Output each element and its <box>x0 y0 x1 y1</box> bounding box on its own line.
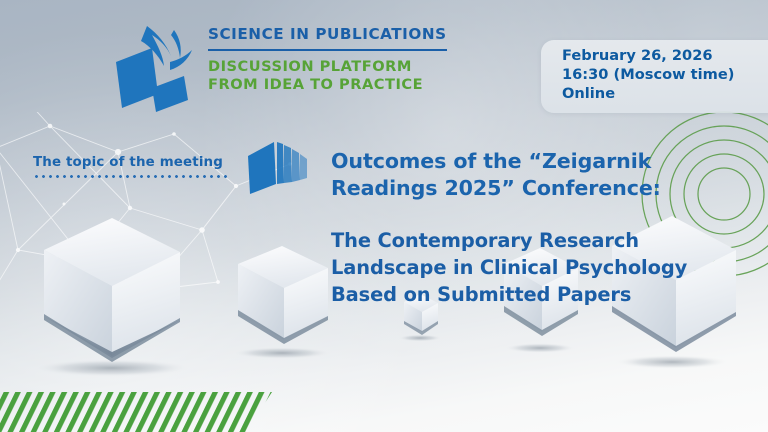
brand-text-block: SCIENCE IN PUBLICATIONS DISCUSSION PLATF… <box>208 14 447 93</box>
event-date: February 26, 2026 <box>562 47 768 66</box>
book-with-birds-icon <box>108 16 200 112</box>
brand-line-2: DISCUSSION PLATFORM <box>208 58 447 76</box>
topic-badge: The topic of the meeting <box>33 155 229 178</box>
event-format: Online <box>562 85 768 104</box>
subtitle-line-2: Landscape in Clinical Psychology <box>331 255 751 282</box>
subtitle-line-3: Based on Submitted Papers <box>331 282 751 309</box>
title-line-1: Outcomes of the “Zeigarnik <box>331 148 746 175</box>
topic-badge-dotted-rule <box>33 175 229 178</box>
subtitle-line-1: The Contemporary Research <box>331 228 751 255</box>
brand-line-1: SCIENCE IN PUBLICATIONS <box>208 26 447 43</box>
title-line-2: Readings 2025” Conference: <box>331 175 746 202</box>
webinar-announcement-banner: SCIENCE IN PUBLICATIONS DISCUSSION PLATF… <box>0 0 768 432</box>
event-details-panel: February 26, 2026 16:30 (Moscow time) On… <box>541 40 768 113</box>
brand-line-3: FROM IDEA TO PRACTICE <box>208 76 447 94</box>
open-book-icon <box>243 136 309 198</box>
event-time: 16:30 (Moscow time) <box>562 66 768 85</box>
page-title: Outcomes of the “Zeigarnik Readings 2025… <box>331 148 746 202</box>
brand-divider <box>208 49 447 51</box>
page-subtitle: The Contemporary Research Landscape in C… <box>331 228 751 308</box>
network-constellation-icon <box>0 112 320 302</box>
diagonal-stripes-icon <box>0 384 286 432</box>
brand-logo-block: SCIENCE IN PUBLICATIONS DISCUSSION PLATF… <box>108 14 447 112</box>
topic-badge-label: The topic of the meeting <box>33 155 229 170</box>
